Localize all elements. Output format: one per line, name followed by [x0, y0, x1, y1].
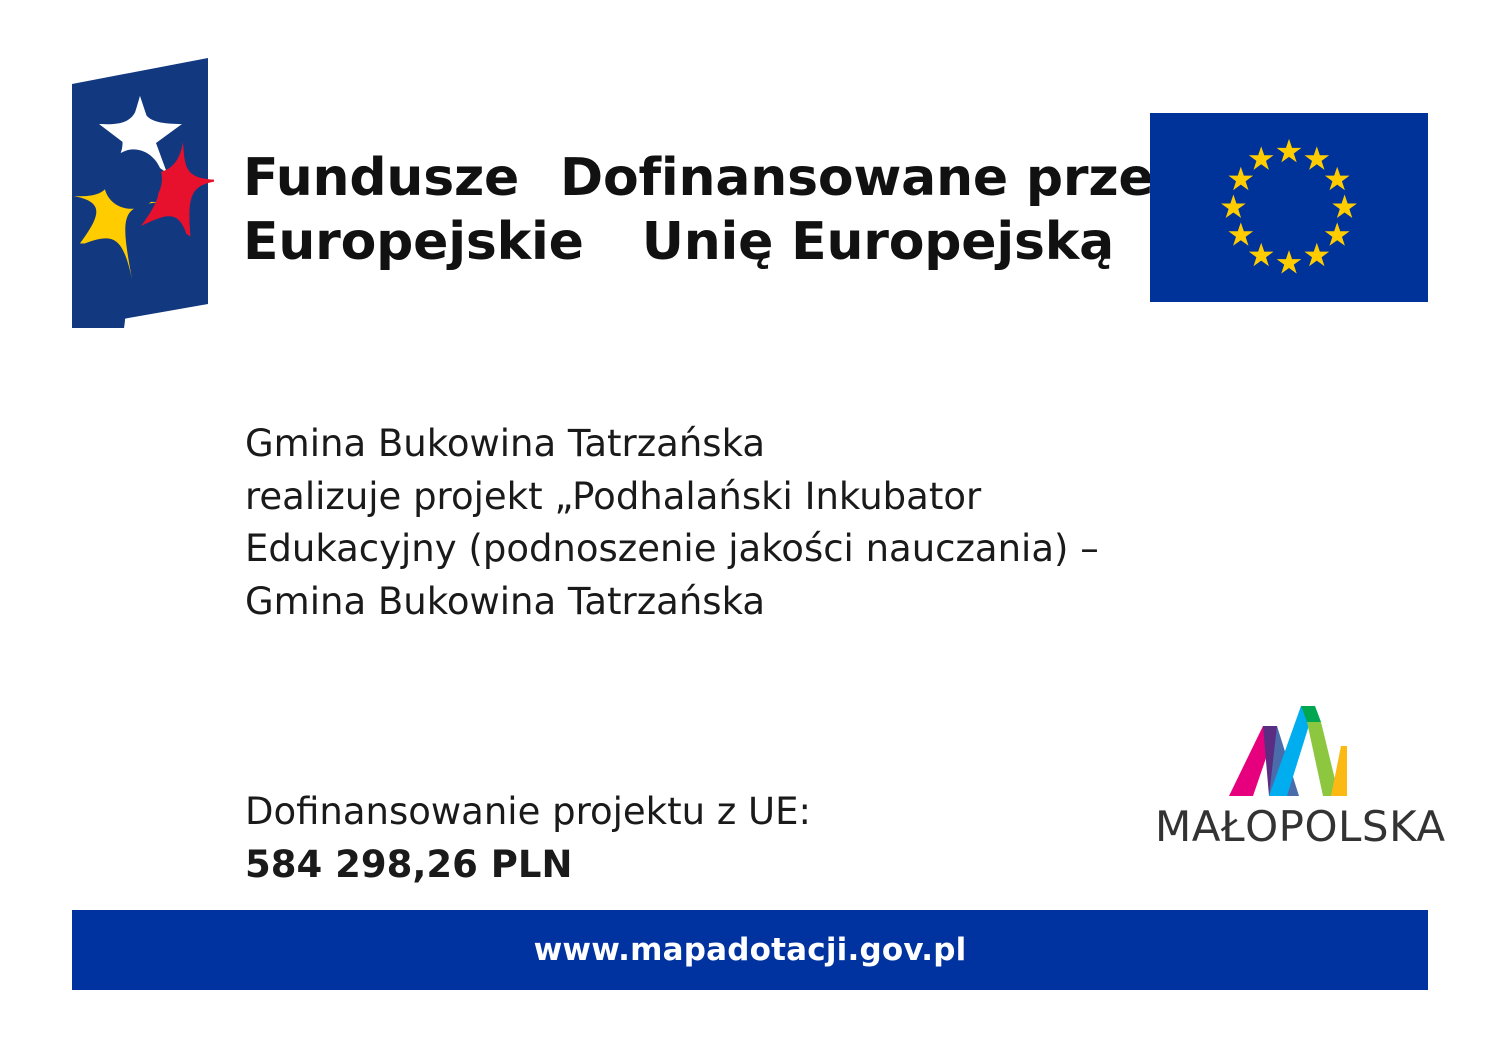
funding-label: Dofinansowanie projektu z UE: — [245, 786, 811, 839]
malopolska-logo: MAŁOPOLSKA — [1155, 700, 1440, 845]
european-union-flag-icon — [1150, 113, 1428, 302]
eu-funding-wordmark: Dofinansowane przez Unię Europejską — [560, 147, 1114, 275]
footer-bar: www.mapadotacji.gov.pl — [72, 910, 1428, 990]
funding-amount-block: Dofinansowanie projektu z UE: 584 298,26… — [245, 786, 811, 891]
malopolska-mountains-icon — [1223, 700, 1358, 798]
fundusze-europejskie-wordmark: Fundusze Europejskie — [243, 147, 584, 275]
project-description: Gmina Bukowina Tatrzańska realizuje proj… — [245, 418, 1099, 628]
fundusze-europejskie-logo — [66, 54, 214, 332]
footer-url-link[interactable]: www.mapadotacji.gov.pl — [534, 932, 967, 968]
funding-amount-value: 584 298,26 PLN — [245, 839, 811, 892]
malopolska-wordmark: MAŁOPOLSKA — [1155, 802, 1440, 851]
